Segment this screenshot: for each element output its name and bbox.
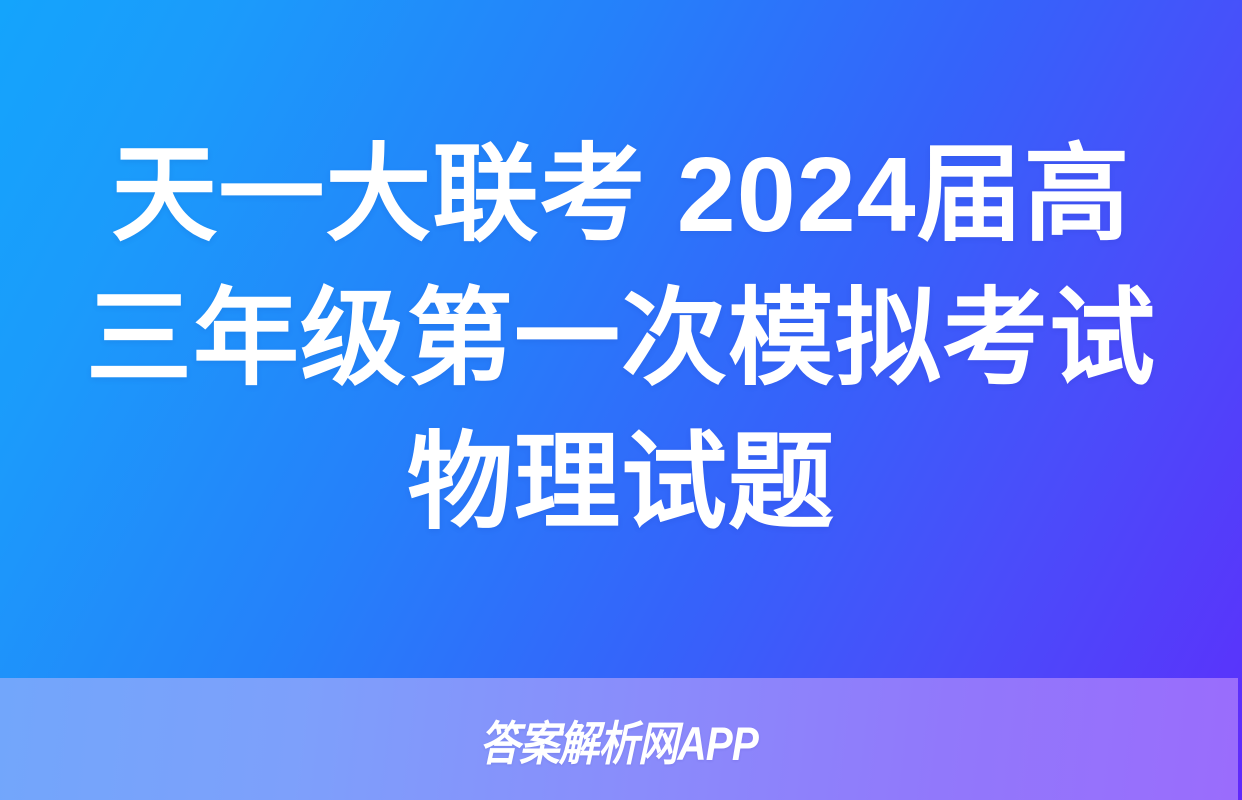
page-title: 天一大联考 2024届高三年级第一次模拟考试物理试题 [60, 123, 1182, 555]
poster-container: 天一大联考 2024届高三年级第一次模拟考试物理试题 答案解析网APP [0, 0, 1242, 800]
hero-section: 天一大联考 2024届高三年级第一次模拟考试物理试题 [0, 0, 1242, 678]
app-watermark-label: 答案解析网APP [480, 705, 758, 774]
banner-right-edge-strip [1238, 678, 1242, 800]
watermark-banner: 答案解析网APP [0, 678, 1238, 800]
